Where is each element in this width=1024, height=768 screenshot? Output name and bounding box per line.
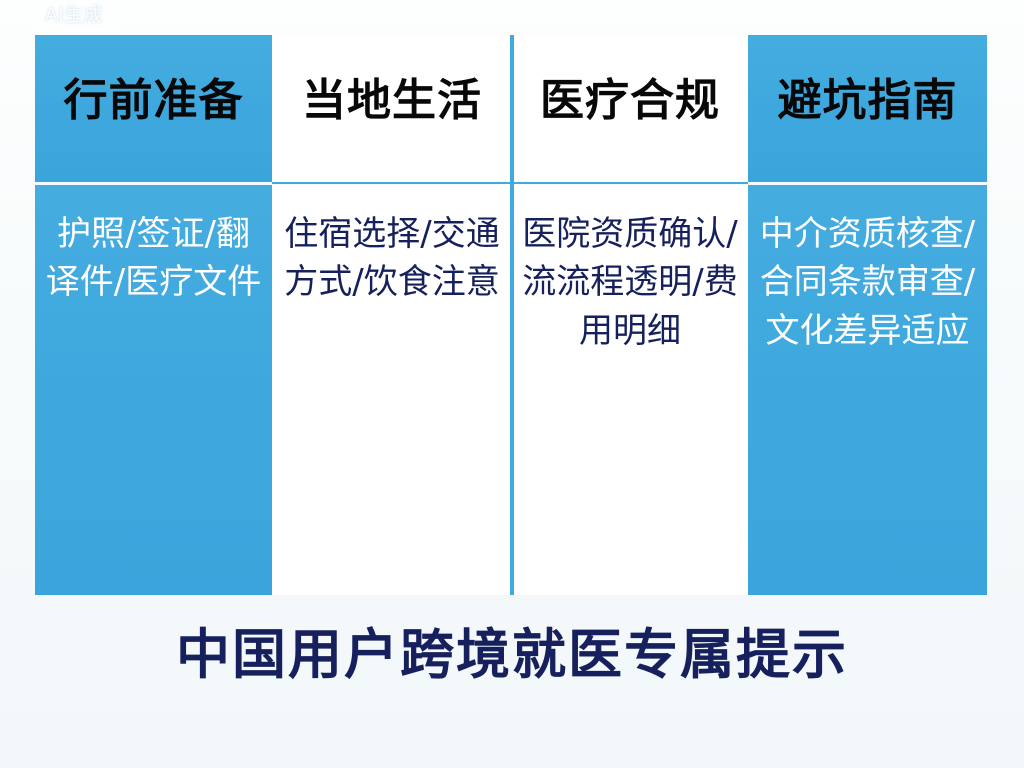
table-grid: 行前准备 当地生活 医疗合规 避坑指南 护照/签证/翻译件/医疗文件 住宿选择/… [35,35,987,595]
table-body-row: 护照/签证/翻译件/医疗文件 住宿选择/交通方式/饮食注意 医院资质确认/流流程… [35,182,987,595]
table-header-row: 行前准备 当地生活 医疗合规 避坑指南 [35,35,987,182]
header-label-pitfall-guide: 避坑指南 [748,77,987,125]
body-cell-local-life: 住宿选择/交通方式/饮食注意 [272,182,512,595]
body-text-pre-trip: 护照/签证/翻译件/医疗文件 [43,210,264,307]
header-label-medical-compliance: 医疗合规 [512,77,748,125]
body-text-local-life: 住宿选择/交通方式/饮食注意 [280,210,504,307]
body-cell-medical-compliance: 医院资质确认/流流程透明/费用明细 [512,182,748,595]
body-cell-pitfall-guide: 中介资质核查/合同条款审查/文化差异适应 [748,182,987,595]
header-cell-local-life: 当地生活 [272,35,512,182]
body-text-pitfall-guide: 中介资质核查/合同条款审查/文化差异适应 [756,210,979,355]
page-title: 中国用户跨境就医专属提示 [0,625,1024,684]
header-label-local-life: 当地生活 [272,77,512,125]
body-text-medical-compliance: 医院资质确认/流流程透明/费用明细 [520,210,740,355]
comparison-table: 行前准备 当地生活 医疗合规 避坑指南 护照/签证/翻译件/医疗文件 住宿选择/… [35,35,987,595]
header-label-pre-trip: 行前准备 [35,77,272,125]
header-cell-pitfall-guide: 避坑指南 [748,35,987,182]
header-cell-pre-trip: 行前准备 [35,35,272,182]
body-cell-pre-trip: 护照/签证/翻译件/医疗文件 [35,182,272,595]
header-cell-medical-compliance: 医疗合规 [512,35,748,182]
